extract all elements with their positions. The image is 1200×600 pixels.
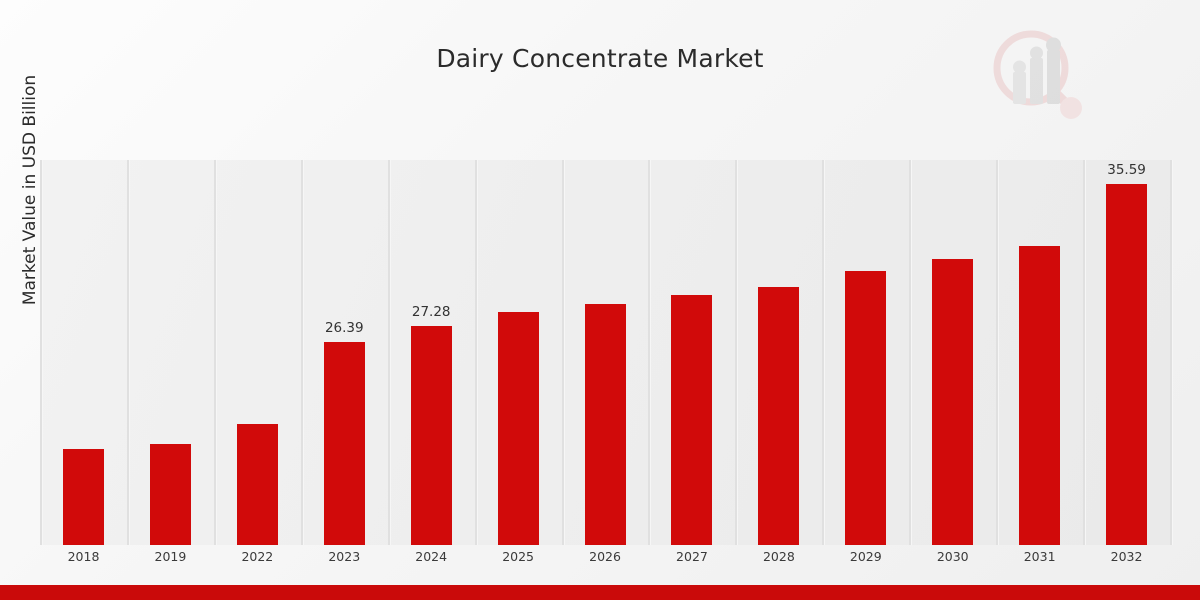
bar-group[interactable]	[475, 160, 562, 545]
x-axis-tick-label: 2023	[301, 549, 388, 564]
footer-accent-band	[0, 585, 1200, 600]
chart-page: Dairy Concentrate Market Market Value in…	[0, 0, 1200, 600]
x-axis-tick-label: 2032	[1083, 549, 1170, 564]
x-axis-tick-label: 2024	[388, 549, 475, 564]
bar-group[interactable]	[648, 160, 735, 545]
bar-group[interactable]	[822, 160, 909, 545]
x-axis-tick-label: 2029	[822, 549, 909, 564]
bar-group[interactable]	[127, 160, 214, 545]
bar[interactable]	[411, 326, 452, 545]
bar-group[interactable]	[996, 160, 1083, 545]
bar[interactable]	[585, 304, 626, 545]
bar-value-label: 26.39	[301, 320, 388, 336]
x-axis-tick-label: 2022	[214, 549, 301, 564]
x-axis-tick-label: 2018	[40, 549, 127, 564]
x-axis-tick-label: 2026	[562, 549, 649, 564]
bar-group[interactable]	[40, 160, 127, 545]
bar-group[interactable]	[562, 160, 649, 545]
x-axis-tick-label: 2031	[996, 549, 1083, 564]
x-axis-tick-label: 2019	[127, 549, 214, 564]
bar-value-label: 35.59	[1083, 162, 1170, 178]
x-axis-tick-label: 2027	[648, 549, 735, 564]
bar[interactable]	[758, 287, 799, 545]
bar[interactable]	[845, 271, 886, 545]
page-title: Dairy Concentrate Market	[0, 44, 1200, 73]
bar[interactable]	[932, 259, 973, 545]
plot-area: 26.3927.2835.59	[40, 160, 1170, 545]
bar[interactable]	[1019, 246, 1060, 545]
bar[interactable]	[671, 295, 712, 545]
x-axis-tick-label: 2028	[735, 549, 822, 564]
bar-group[interactable]: 35.59	[1083, 160, 1170, 545]
bar[interactable]	[237, 424, 278, 545]
bar-group[interactable]	[909, 160, 996, 545]
bar-series: 26.3927.2835.59	[40, 160, 1170, 545]
x-axis: 2018201920222023202420252026202720282029…	[40, 549, 1170, 571]
bar[interactable]	[498, 312, 539, 545]
bar-group[interactable]: 27.28	[388, 160, 475, 545]
bar[interactable]	[1106, 184, 1147, 545]
bar[interactable]	[63, 449, 104, 545]
x-axis-tick-label: 2025	[475, 549, 562, 564]
bar-group[interactable]	[214, 160, 301, 545]
bar[interactable]	[324, 342, 365, 545]
y-axis-title: Market Value in USD Billion	[20, 0, 40, 390]
gridline	[1170, 160, 1172, 545]
x-axis-tick-label: 2030	[909, 549, 996, 564]
bar-group[interactable]: 26.39	[301, 160, 388, 545]
bar[interactable]	[150, 444, 191, 545]
bar-value-label: 27.28	[388, 304, 475, 320]
bar-group[interactable]	[735, 160, 822, 545]
